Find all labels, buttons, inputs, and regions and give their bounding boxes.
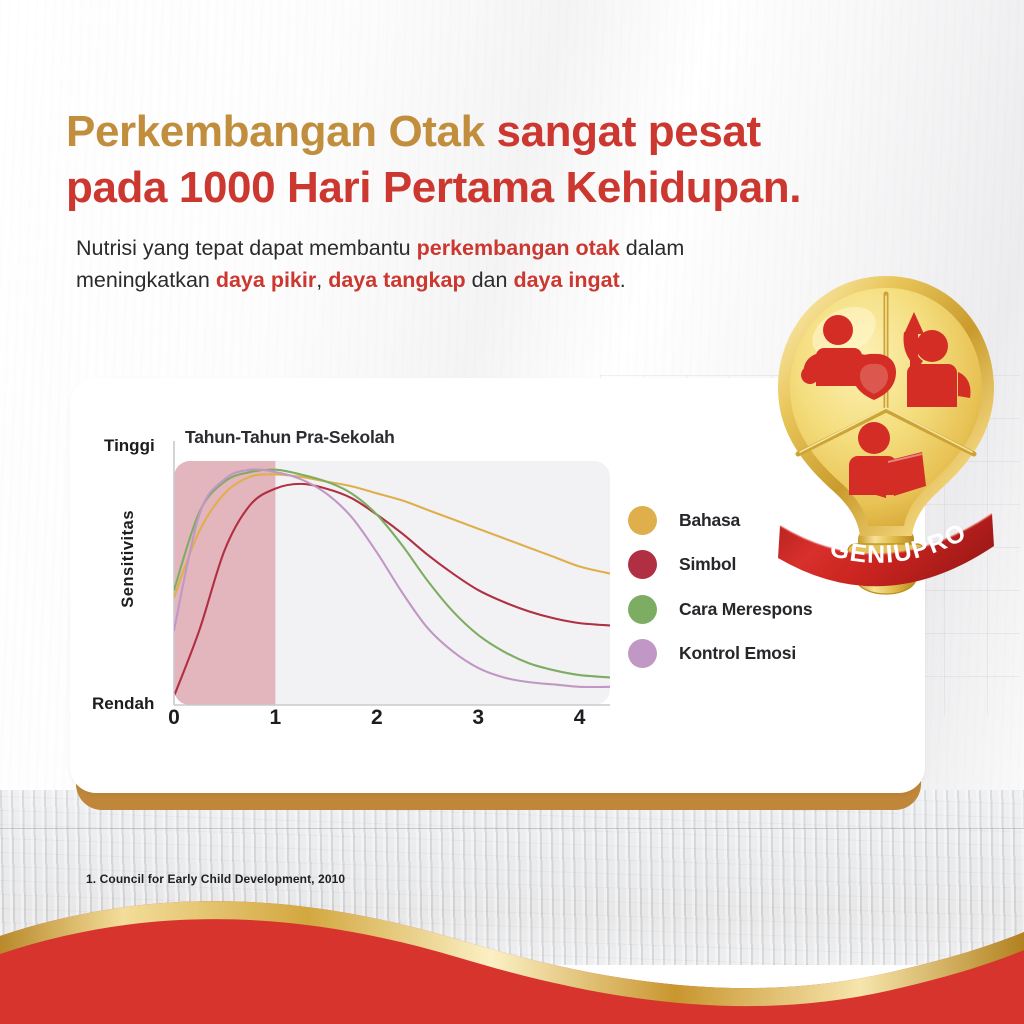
subtitle-part-3: , [316, 268, 328, 292]
highlight-band-first-1000-days [174, 461, 275, 705]
x-tick-1: 1 [270, 706, 282, 730]
subtitle-paragraph: Nutrisi yang tepat dapat membantu perkem… [76, 232, 816, 297]
legend-color-dot [628, 506, 657, 535]
subtitle-highlight-4: daya ingat [513, 268, 619, 292]
legend-item-kontrol-emosi: Kontrol Emosi [628, 632, 918, 677]
x-axis-tick-labels: 01234 [0, 706, 640, 740]
geniupro-bulb-logo: GENIUPRO [762, 268, 1010, 604]
subtitle-part-5: . [620, 268, 626, 292]
subtitle-part-1: Nutrisi yang tepat dapat membantu [76, 236, 417, 260]
legend-color-dot [628, 550, 657, 579]
legend-label: Bahasa [679, 510, 740, 531]
x-tick-0: 0 [168, 706, 180, 730]
legend-label: Kontrol Emosi [679, 643, 796, 664]
x-tick-2: 2 [371, 706, 383, 730]
subtitle-highlight-1: perkembangan otak [417, 236, 620, 260]
headline-line-2: pada 1000 Hari Pertama Kehidupan. [66, 160, 946, 216]
legend-color-dot [628, 595, 657, 624]
subtitle-highlight-2: daya pikir [216, 268, 316, 292]
headline-gold-text: Perkembangan Otak [66, 107, 485, 156]
headline-block: Perkembangan Otak sangat pesat pada 1000… [66, 104, 946, 216]
sensitivity-curves-plot [100, 425, 610, 745]
subtitle-highlight-3: daya tangkap [328, 268, 465, 292]
headline-line-1: Perkembangan Otak sangat pesat [66, 104, 946, 160]
legend-color-dot [628, 639, 657, 668]
x-tick-4: 4 [574, 706, 586, 730]
legend-label: Simbol [679, 554, 736, 575]
footer-wave [0, 864, 1024, 1024]
stone-horizon-line [0, 828, 1024, 829]
subtitle-part-4: dan [466, 268, 514, 292]
x-tick-3: 3 [472, 706, 484, 730]
headline-red-tail: sangat pesat [485, 107, 761, 156]
